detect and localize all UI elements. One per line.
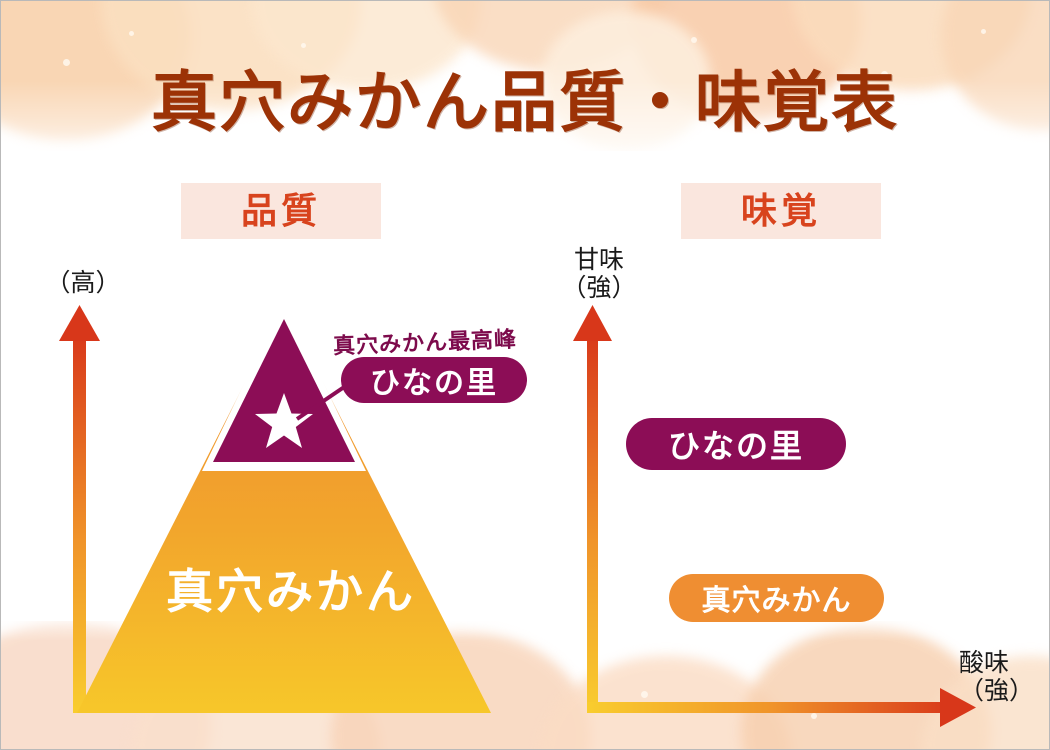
taste-point-manana-mikan: 真穴みかん <box>669 574 884 622</box>
section-header-quality: 品質 <box>181 183 381 239</box>
infographic-canvas: 真穴みかん品質・味覚表 品質 味覚 <box>0 0 1050 750</box>
taste-yaxis-label: 甘味 （強） <box>549 246 649 302</box>
quality-axis-label: （高） <box>33 269 133 297</box>
taste-point-hinanosato: ひなの里 <box>626 418 846 470</box>
taste-yaxis-arrow <box>573 305 612 713</box>
section-header-taste: 味覚 <box>681 183 881 239</box>
taste-xaxis-label: 酸味 （強） <box>959 649 1050 705</box>
page-title: 真穴みかん品質・味覚表 <box>1 49 1049 145</box>
taste-xaxis-arrow <box>587 688 976 727</box>
pyramid-peak-label: ひなの里 <box>341 357 527 403</box>
